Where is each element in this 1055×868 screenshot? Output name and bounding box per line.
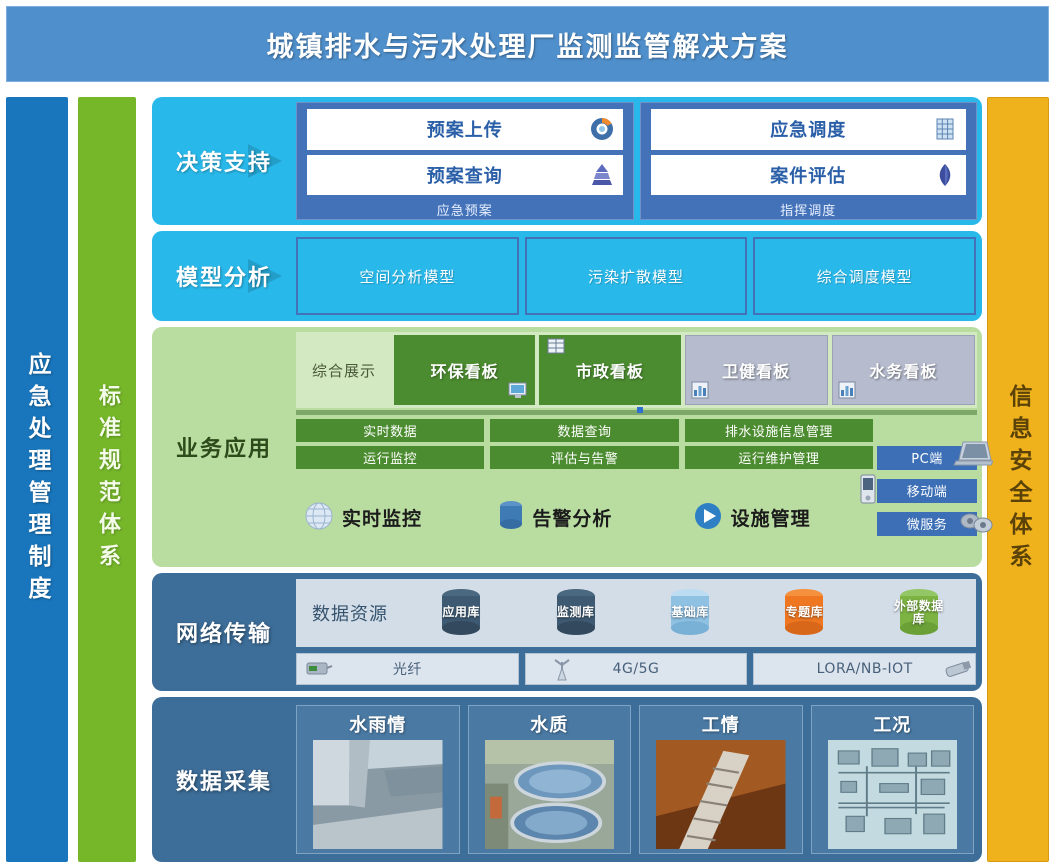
acquisition-card-hydrology-label: 水雨情	[299, 708, 457, 740]
layer-data-acquisition: 数据采集 水雨情 水质	[152, 697, 982, 862]
transport-fiber-label: 光纤	[393, 659, 422, 679]
canal-photo	[313, 740, 443, 849]
app-button-assessment-alarm[interactable]: 评估与告警	[490, 446, 678, 469]
layer-decision-support: 决策支持 预案上传 预案查询	[152, 97, 982, 225]
sidebar-standards-label: 标准规范体系	[91, 384, 123, 576]
decision-item-emergency-dispatch[interactable]: 应急调度	[651, 109, 967, 150]
database-external-label: 外部数据库	[890, 600, 948, 626]
data-acquisition-label: 数据采集	[152, 697, 296, 862]
decision-item-emergency-dispatch-label: 应急调度	[770, 116, 846, 142]
terminal-mobile[interactable]: 移动端	[877, 479, 977, 503]
data-resources-label: 数据资源	[296, 600, 404, 626]
decision-item-plan-query[interactable]: 预案查询	[307, 155, 623, 196]
database-monitoring-label: 监测库	[557, 606, 595, 619]
monitor-icon	[507, 381, 529, 401]
app-feature-facility-management-label: 设施管理	[731, 504, 811, 531]
dashboard-group-label: 综合展示	[296, 332, 392, 408]
pipeline-trench-photo	[656, 740, 786, 849]
app-button-drainage-facility-info[interactable]: 排水设施信息管理	[685, 419, 873, 442]
transport-lora-nbiot[interactable]: LORA/NB-IOT	[753, 653, 976, 685]
app-button-operation-monitoring[interactable]: 运行监控	[296, 446, 484, 469]
app-button-data-query[interactable]: 数据查询	[490, 419, 678, 442]
database-application-label: 应用库	[442, 606, 480, 619]
decision-item-plan-upload[interactable]: 预案上传	[307, 109, 623, 150]
page-title: 城镇排水与污水处理厂监测监管解决方案	[267, 25, 789, 64]
fiber-icon	[303, 658, 333, 680]
sidebar-security-label: 信息安全体系	[1001, 384, 1035, 576]
model-box-integrated-dispatch[interactable]: 综合调度模型	[753, 237, 976, 315]
pyramid-icon	[589, 162, 615, 188]
database-monitoring[interactable]: 监测库	[547, 584, 605, 642]
dashboard-row: 综合展示 环保看板 市政看板	[296, 332, 977, 408]
app-column-query: 数据查询 评估与告警 告警分析	[490, 419, 678, 562]
database-foundation[interactable]: 基础库	[661, 584, 719, 642]
dashboard-municipal[interactable]: 市政看板	[539, 335, 680, 405]
app-feature-facility-management[interactable]: 设施管理	[685, 473, 873, 562]
app-feature-alarm-analysis[interactable]: 告警分析	[490, 473, 678, 562]
database-external[interactable]: 外部数据库	[890, 584, 948, 642]
acquisition-card-water-quality-label: 水质	[471, 708, 629, 740]
terminal-pc-label: PC端	[911, 448, 942, 467]
database-application[interactable]: 应用库	[432, 584, 490, 642]
app-column-facility: 排水设施信息管理 运行维护管理 设施管理	[685, 419, 873, 562]
decision-group-command-dispatch: 应急调度 案件评估	[640, 102, 978, 220]
dashboard-health[interactable]: 卫健看板	[685, 335, 828, 405]
sidebar-standards-system: 标准规范体系	[78, 97, 136, 862]
grid-table-icon	[932, 116, 958, 142]
transport-fiber[interactable]: 光纤	[296, 653, 519, 685]
layer-model-analysis: 模型分析 空间分析模型 污染扩散模型 综合调度模型	[152, 231, 982, 321]
window-icon	[545, 337, 567, 357]
model-box-pollution-diffusion[interactable]: 污染扩散模型	[525, 237, 748, 315]
decision-item-case-assessment-label: 案件评估	[770, 162, 846, 188]
acquisition-card-engineering-label: 工情	[642, 708, 800, 740]
play-icon	[691, 499, 725, 537]
chart-icon	[837, 380, 859, 400]
decision-item-case-assessment[interactable]: 案件评估	[651, 155, 967, 196]
lifebuoy-icon	[589, 116, 615, 142]
sensor-icon	[941, 658, 971, 680]
model-analysis-label: 模型分析	[152, 231, 296, 321]
chart-icon	[690, 380, 712, 400]
dashboard-environment-label: 环保看板	[431, 358, 499, 382]
section-divider	[296, 410, 977, 415]
acquisition-card-engineering[interactable]: 工情	[639, 705, 803, 854]
gears-icon	[957, 508, 995, 540]
leaf-icon	[932, 162, 958, 188]
data-resources-row: 数据资源 应用库	[296, 579, 976, 647]
acquisition-card-working-condition-label: 工况	[814, 708, 972, 740]
terminal-microservice-label: 微服务	[907, 514, 948, 533]
decision-group-command-caption: 指挥调度	[651, 200, 967, 219]
dashboard-municipal-label: 市政看板	[576, 358, 644, 382]
database-icon	[496, 499, 526, 537]
dashboard-water-affairs-label: 水务看板	[869, 358, 937, 382]
sidebar-information-security: 信息安全体系	[987, 97, 1049, 862]
decision-item-plan-upload-label: 预案上传	[427, 116, 503, 142]
acquisition-card-water-quality[interactable]: 水质	[468, 705, 632, 854]
acquisition-card-working-condition[interactable]: 工况	[811, 705, 975, 854]
database-thematic[interactable]: 专题库	[775, 584, 833, 642]
layer-business-application: 业务应用 综合展示 环保看板 市政看板	[152, 327, 982, 567]
transport-lora-label: LORA/NB-IOT	[817, 661, 913, 677]
app-feature-alarm-analysis-label: 告警分析	[532, 504, 612, 531]
dashboard-health-label: 卫健看板	[722, 358, 790, 382]
transport-4g5g-label: 4G/5G	[613, 661, 660, 677]
app-button-realtime-data[interactable]: 实时数据	[296, 419, 484, 442]
database-foundation-label: 基础库	[671, 606, 709, 619]
decision-group-emergency-caption: 应急预案	[307, 200, 623, 219]
page-title-bar: 城镇排水与污水处理厂监测监管解决方案	[6, 6, 1049, 82]
sidebar-emergency-label: 应急处理管理制度	[20, 352, 54, 608]
mobile-icon	[857, 473, 879, 509]
terminal-microservice[interactable]: 微服务	[877, 512, 977, 536]
dashboard-environment[interactable]: 环保看板	[394, 335, 535, 405]
app-column-monitoring: 实时数据 运行监控 实时监控	[296, 419, 484, 562]
dashboard-water-affairs[interactable]: 水务看板	[832, 335, 975, 405]
business-application-label: 业务应用	[152, 327, 296, 567]
model-box-spatial[interactable]: 空间分析模型	[296, 237, 519, 315]
antenna-icon	[550, 658, 580, 680]
transport-4g5g[interactable]: 4G/5G	[525, 653, 748, 685]
layer-network-transport: 网络传输 数据资源 应用库	[152, 573, 982, 691]
acquisition-card-hydrology[interactable]: 水雨情	[296, 705, 460, 854]
app-button-operation-maintenance[interactable]: 运行维护管理	[685, 446, 873, 469]
sidebar-emergency-management: 应急处理管理制度	[6, 97, 68, 862]
decision-item-plan-query-label: 预案查询	[427, 162, 503, 188]
decision-support-label: 决策支持	[152, 97, 296, 225]
scada-diagram	[828, 740, 958, 849]
terminal-mobile-label: 移动端	[907, 481, 948, 500]
app-feature-realtime-monitoring-label: 实时监控	[342, 504, 422, 531]
database-thematic-label: 专题库	[786, 606, 824, 619]
globe-icon	[302, 499, 336, 537]
sedimentation-tank-photo	[485, 740, 615, 849]
decision-group-emergency-plan: 预案上传 预案查询	[296, 102, 634, 220]
laptop-icon	[953, 438, 993, 472]
transport-row: 光纤 4G/5G LORA/NB-IOT	[296, 653, 976, 685]
terminal-pc[interactable]: PC端	[877, 446, 977, 470]
architecture-stack: 决策支持 预案上传 预案查询	[152, 97, 982, 862]
app-feature-realtime-monitoring[interactable]: 实时监控	[296, 473, 484, 562]
network-transport-label: 网络传输	[152, 573, 296, 691]
terminal-badges: PC端 移动端	[873, 419, 977, 562]
